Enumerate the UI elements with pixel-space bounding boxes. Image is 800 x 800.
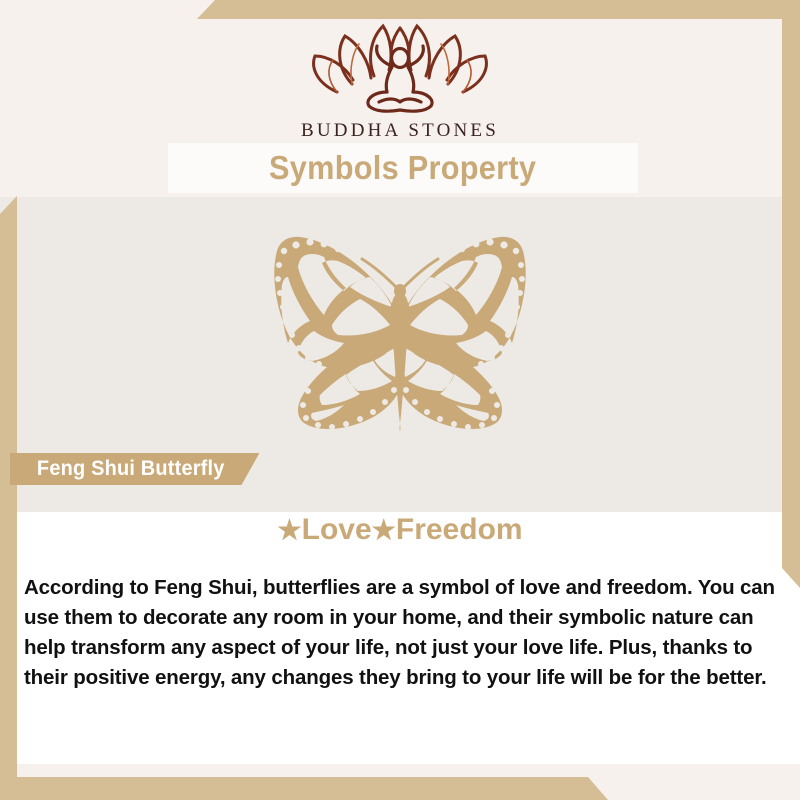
brand-name: BUDDHA STONES [0,120,800,142]
subtitle-love-freedom: ★Love★Freedom [0,513,800,547]
butterfly-illustration [0,225,800,445]
subtitle-word-freedom: Freedom [396,513,523,546]
brand-logo: BUDDHA STONES [0,22,800,142]
symbols-property-poster: BUDDHA STONES Symbols Property [0,0,800,800]
feng-shui-butterfly-banner: Feng Shui Butterfly [10,453,259,485]
page-title-band: Symbols Property [168,143,638,193]
description-paragraph: According to Feng Shui, butterflies are … [24,573,780,693]
star-icon-left: ★ [277,515,301,545]
star-icon-middle: ★ [372,515,396,545]
page-title: Symbols Property [269,149,536,187]
banner-label: Feng Shui Butterfly [37,457,225,481]
lotus-meditation-figure-icon [307,22,493,118]
subtitle-word-love: Love [302,513,372,546]
butterfly-icon [220,225,580,440]
